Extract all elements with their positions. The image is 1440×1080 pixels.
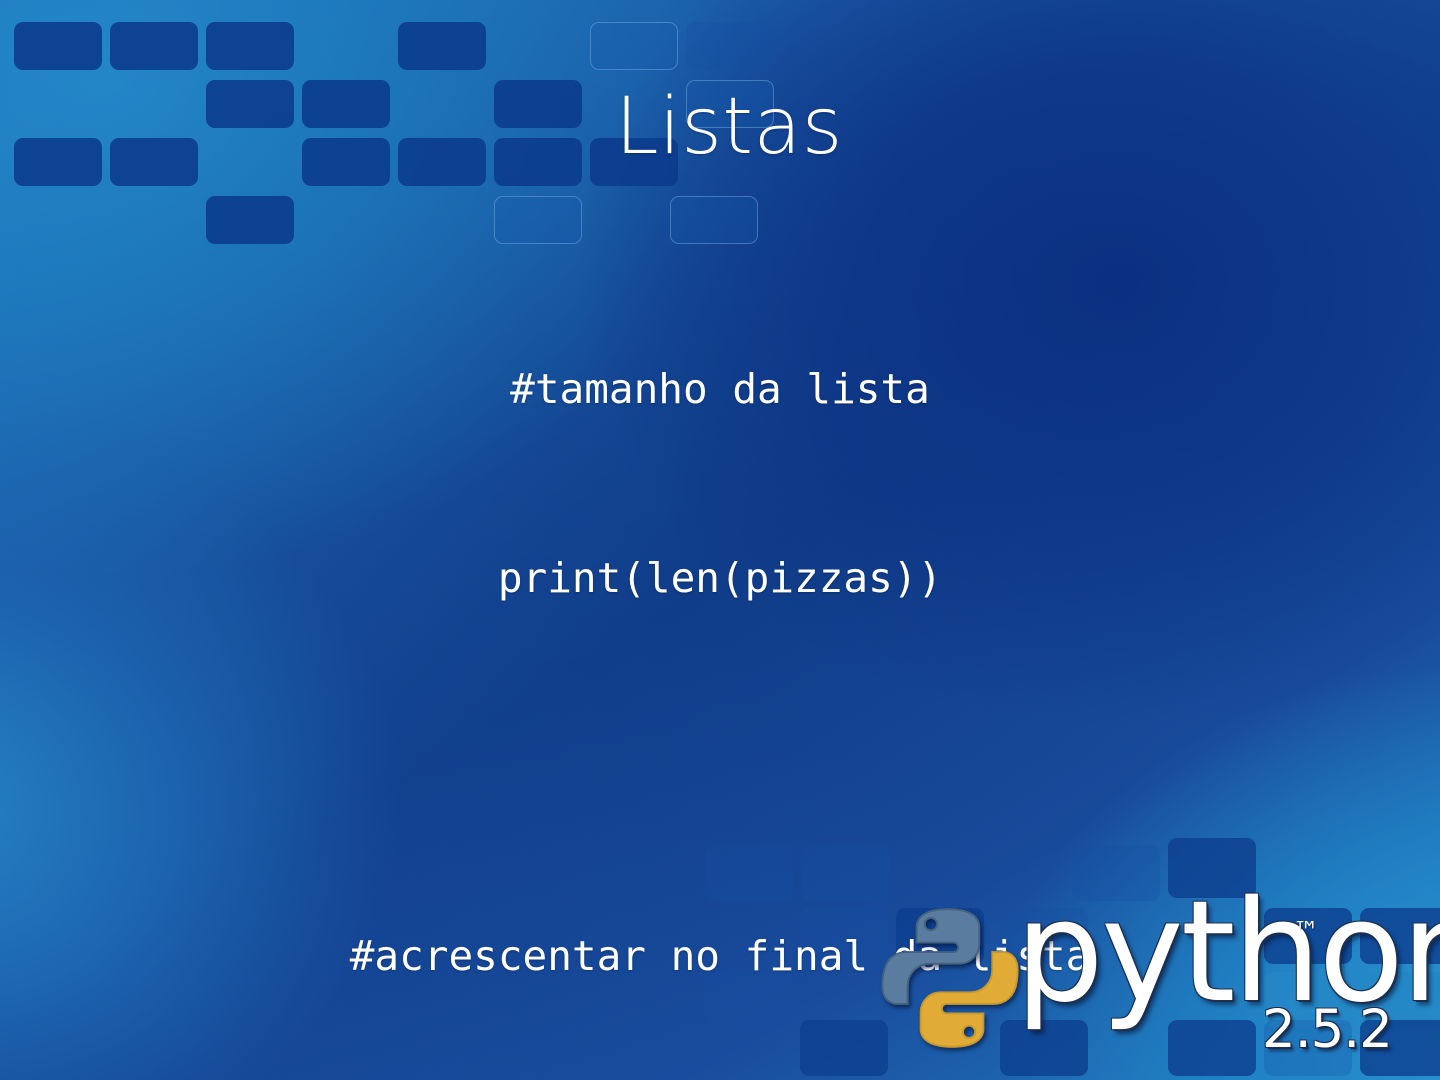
trademark-symbol: ™ [1293,917,1319,947]
decorative-square [206,22,294,70]
decorative-square [14,22,102,70]
slide-canvas: Listas #tamanho da lista print(len(pizza… [0,0,1440,1080]
slide-title: Listas [0,88,1440,166]
decorative-square [398,22,486,70]
code-blank-line [0,736,1440,799]
code-line: print(len(pizzas)) [0,547,1440,610]
python-snakes-icon [875,903,1025,1053]
decorative-square [686,22,774,70]
code-line: #tamanho da lista [0,358,1440,421]
python-version-label: 2.5.2 [1262,1003,1392,1056]
decorative-square [110,22,198,70]
python-logo: python ™ 2.5.2 [875,895,1405,1075]
decorative-square [590,22,678,70]
